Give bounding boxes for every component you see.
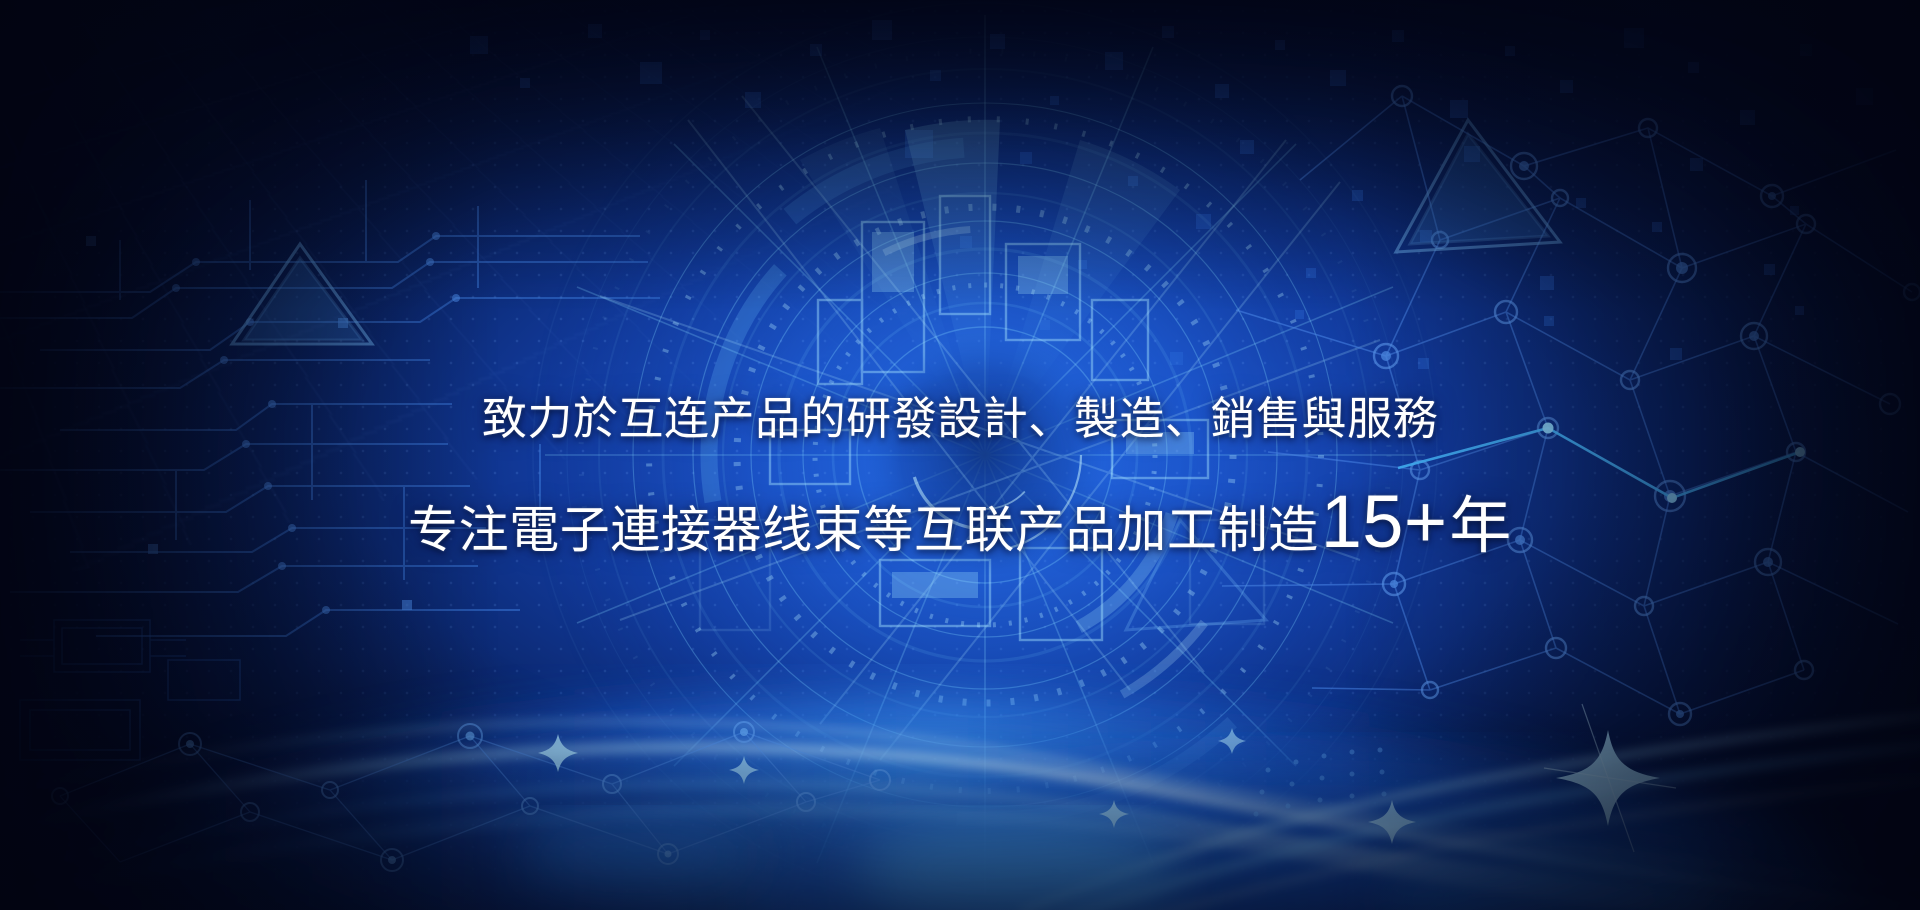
headline-line-1: 致力於互连产品的研發設計、製造、銷售與服務 — [0, 396, 1920, 441]
headline-block: 致力於互连产品的研發設計、製造、銷售與服務 专注電子連接器线束等互联产品加工制造… — [0, 396, 1920, 559]
headline-line-2: 专注電子連接器线束等互联产品加工制造15+年 — [0, 485, 1920, 559]
headline-line-2-prefix: 专注電子連接器线束等互联产品加工制造 — [408, 505, 1319, 555]
hero-banner: 致力於互连产品的研發設計、製造、銷售與服務 专注電子連接器线束等互联产品加工制造… — [0, 0, 1920, 910]
headline-years-unit: 年 — [1449, 496, 1512, 558]
headline-years-number: 15+ — [1321, 485, 1448, 559]
